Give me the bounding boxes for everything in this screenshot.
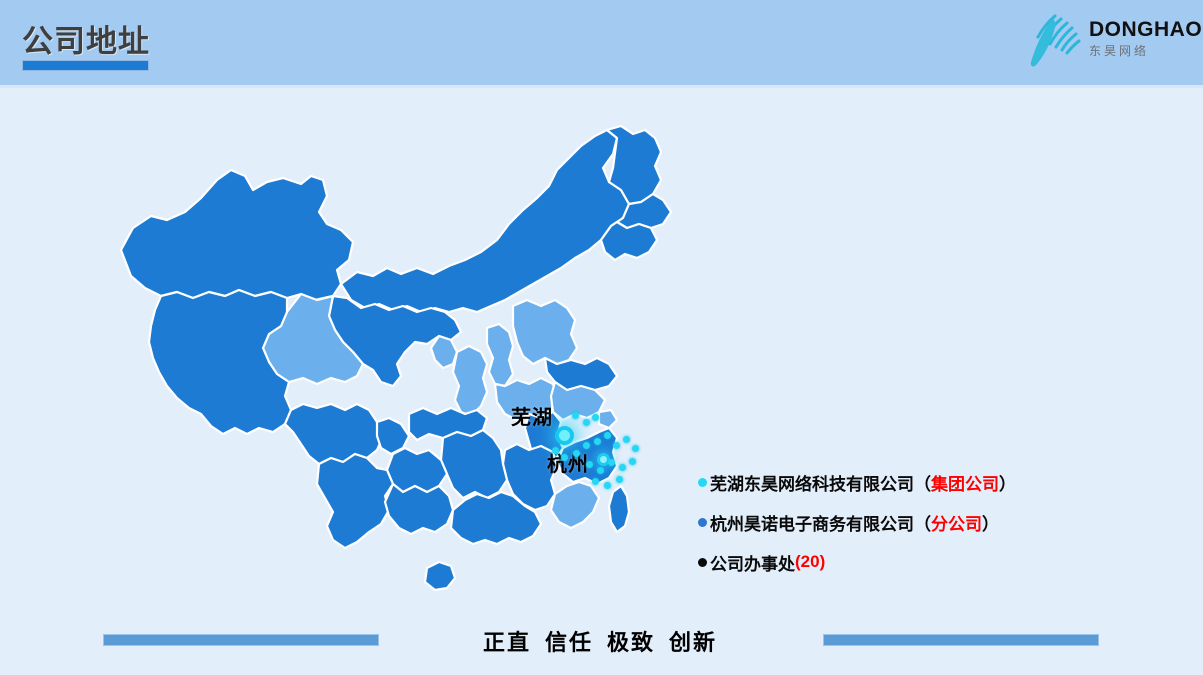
province-hainan [425, 562, 455, 590]
office-dot[interactable] [592, 478, 599, 485]
office-dot[interactable] [583, 442, 590, 449]
logo-text-block: DONGHAO 东昊网络 [1089, 18, 1202, 60]
legend-tag: 分公司 [931, 510, 982, 535]
legend-bullet-icon [698, 478, 707, 487]
office-dot[interactable] [597, 467, 604, 474]
legend-paren-close: ） [982, 510, 999, 535]
office-dot[interactable] [629, 458, 636, 465]
legend-paren-close: ） [999, 470, 1016, 495]
brand-logo: DONGHAO 东昊网络 [1025, 10, 1189, 74]
legend-tag: 集团公司 [931, 470, 999, 495]
page-title: 公司地址 [22, 16, 150, 61]
slogan-word: 正直 [483, 630, 531, 655]
office-dot[interactable] [561, 454, 568, 461]
header-divider [0, 85, 1203, 88]
slogan-word: 极致 [607, 630, 655, 655]
office-dot[interactable] [552, 447, 559, 454]
legend-paren-open: （ [914, 470, 931, 495]
province-shanghai [599, 410, 617, 428]
city-label-wuhu: 芜湖 [511, 401, 553, 430]
legend-label: 杭州昊诺电子商务有限公司 [710, 510, 914, 535]
province-xinjiang [121, 170, 353, 300]
slogan-word: 创新 [669, 630, 717, 655]
office-dot[interactable] [623, 436, 630, 443]
slogan-word: 信任 [545, 630, 593, 655]
province-hunan [441, 430, 507, 498]
legend-item-group-company: 芜湖东昊网络科技有限公司 （ 集团公司 ） [698, 462, 1118, 502]
province-shaanxi [453, 346, 487, 416]
office-dot[interactable] [632, 445, 639, 452]
province-taiwan [609, 486, 629, 532]
office-dot[interactable] [608, 459, 615, 466]
province-hebei [513, 300, 577, 364]
province-ningxia [431, 336, 457, 368]
province-yunnan [317, 454, 393, 548]
logo-subtitle: 东昊网络 [1089, 43, 1202, 60]
legend-item-branch-company: 杭州昊诺电子商务有限公司 （ 分公司 ） [698, 502, 1118, 542]
logo-name: DONGHAO [1089, 18, 1202, 42]
china-map-svg [105, 120, 685, 610]
footer-bar-left [103, 634, 379, 646]
office-dot[interactable] [572, 412, 579, 419]
footer-bar-right [823, 634, 1099, 646]
office-dot[interactable] [616, 476, 623, 483]
office-dot[interactable] [586, 461, 593, 468]
legend-label: 公司办事处 [710, 550, 795, 575]
legend-item-offices: 公司办事处 (20) [698, 542, 1118, 582]
legend-tag: (20) [795, 552, 825, 572]
office-dot[interactable] [592, 414, 599, 421]
slide-company-address: 公司地址 DONGHAO 东昊网络 [0, 0, 1203, 675]
office-dot[interactable] [619, 464, 626, 471]
legend: 芜湖东昊网络科技有限公司 （ 集团公司 ） 杭州昊诺电子商务有限公司 （ 分公司… [698, 462, 1118, 582]
office-dot[interactable] [594, 438, 601, 445]
province-tibet [149, 290, 291, 434]
office-dot[interactable] [604, 432, 611, 439]
legend-bullet-icon [698, 558, 707, 567]
office-dot[interactable] [573, 450, 580, 457]
office-dot[interactable] [583, 419, 590, 426]
map-marker-wuhu-headquarters[interactable] [555, 426, 574, 445]
province-liaoning [601, 222, 657, 260]
province-shanxi [487, 324, 513, 386]
office-dot[interactable] [604, 482, 611, 489]
china-map: 芜湖 杭州 [105, 120, 685, 610]
title-underline-bar [22, 60, 149, 71]
office-dot[interactable] [613, 442, 620, 449]
legend-label: 芜湖东昊网络科技有限公司 [710, 470, 914, 495]
feather-wing-icon [1025, 12, 1087, 70]
legend-bullet-icon [698, 518, 707, 527]
legend-paren-open: （ [914, 510, 931, 535]
footer-slogan: 正直信任极致创新 [440, 625, 760, 657]
province-guangxi [385, 484, 453, 534]
province-sichuan [285, 404, 383, 464]
province-inner-mongolia [341, 130, 629, 312]
province-fujian [551, 482, 599, 528]
header-band [0, 0, 1203, 85]
